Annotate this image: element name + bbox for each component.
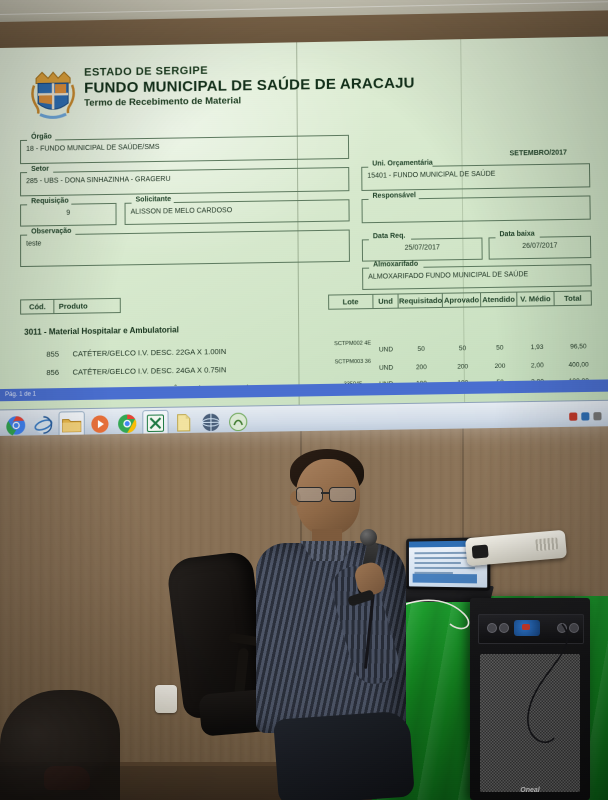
field-value: 15401 - FUNDO MUNICIPAL DE SAÚDE: [367, 171, 495, 180]
field-label: Requisição: [29, 198, 71, 206]
field-label: Setor: [29, 166, 51, 173]
field-value: ALMOXARIFADO FUNDO MUNICIPAL DE SAÚDE: [368, 271, 528, 281]
speaker-cable: [492, 620, 602, 780]
field-value: 18 - FUNDO MUNICIPAL DE SAÚDE/SMS: [26, 144, 159, 153]
field-almoxarifado: Almoxarifado ALMOXARIFADO FUNDO MUNICIPA…: [362, 264, 592, 290]
field-label: Uni. Orçamentária: [370, 160, 435, 168]
field-label: Data baixa: [497, 231, 536, 239]
field-label: Responsável: [370, 192, 417, 200]
row-und: UND: [373, 346, 399, 354]
field-responsavel: Responsável: [362, 195, 591, 223]
field-unidade-orcamentaria: Uni. Orçamentária 15401 - FUNDO MUNICIPA…: [361, 163, 590, 191]
row-total: 400,00: [558, 361, 598, 369]
field-value: teste: [26, 240, 41, 247]
row-requisitado: 200: [399, 364, 443, 372]
volume-icon[interactable]: [593, 412, 601, 420]
period-stamp: SETEMBRO/2017: [510, 149, 567, 157]
projector-vent: [535, 537, 558, 551]
folder-icon[interactable]: [59, 411, 85, 436]
glasses-icon: [296, 487, 358, 500]
media-player-icon[interactable]: [88, 411, 112, 436]
system-tray[interactable]: [569, 411, 608, 420]
legs: [273, 710, 415, 800]
field-observacao: Observação teste: [20, 230, 350, 268]
row-product: CATÉTER/GELCO I.V. DESC. 22GA X 1.00IN: [73, 347, 227, 359]
table-header-left: Cód. Produto: [20, 298, 121, 315]
field-solicitante: Solicitante ALISSON DE MELO CARDOSO: [125, 199, 350, 225]
row-code: 856: [46, 368, 59, 377]
row-aprovado: 200: [444, 363, 482, 371]
row-und: UND: [373, 364, 399, 372]
col-v-medio: V. Médio: [517, 292, 555, 306]
row-v-medio: 1,93: [518, 344, 556, 352]
globe-icon[interactable]: [199, 409, 223, 434]
document-heading: ESTADO DE SERGIPE FUNDO MUNICIPAL DE SAÚ…: [84, 62, 415, 109]
field-data-requisicao: Data Req. 25/07/2017: [362, 238, 483, 262]
network-icon[interactable]: [581, 412, 589, 420]
row-v-medio: 2,00: [518, 362, 556, 370]
col-aprovado: Aprovado: [443, 293, 481, 307]
row-code: 855: [46, 350, 59, 359]
shield-icon[interactable]: [569, 412, 577, 420]
field-value: 285 - UBS - DONA SINHAZINHA - GRAGERU: [26, 176, 170, 185]
projector-lens: [472, 544, 489, 558]
report-document: ESTADO DE SERGIPE FUNDO MUNICIPAL DE SAÚ…: [8, 39, 605, 400]
col-codigo: Cód.: [21, 300, 55, 314]
row-total: 96,50: [558, 343, 598, 351]
field-value: 9: [21, 209, 115, 218]
chrome-window-icon[interactable]: [115, 411, 139, 436]
projected-screen: Imprimir ▤ ▦ Salvar 100% + − ▣ ↔ ⬍ ⌕ ⏮ ◀…: [0, 10, 608, 435]
field-label: Órgão: [29, 133, 54, 140]
table-header-right: Lote Und Requisitado Aprovado Atendido V…: [328, 290, 592, 309]
field-requisicao: Requisição 9: [20, 203, 116, 227]
document-icon[interactable]: [172, 410, 196, 435]
row-atendido: 50: [482, 344, 518, 352]
row-product: CATÉTER/GELCO I.V. DESC. 24GA X 0.75IN: [73, 365, 227, 377]
app-icon[interactable]: [226, 409, 250, 434]
field-label: Observação: [29, 228, 73, 236]
col-lote: Lote: [329, 295, 373, 309]
field-value: 26/07/2017: [490, 242, 591, 251]
row-aprovado: 50: [443, 345, 481, 353]
col-total: Total: [555, 291, 591, 305]
col-und: Und: [373, 294, 399, 308]
photo-scene: Imprimir ▤ ▦ Salvar 100% + − ▣ ↔ ⬍ ⌕ ⏮ ◀…: [0, 0, 608, 800]
field-value: 25/07/2017: [363, 244, 482, 253]
amp-brand-label: Oneal: [470, 787, 590, 794]
row-lote: SCTPM003 36: [331, 359, 375, 366]
aracaju-coat-of-arms-icon: [30, 69, 76, 122]
chrome-icon[interactable]: [4, 413, 28, 436]
excel-icon[interactable]: [142, 409, 168, 436]
row-requisitado: 50: [399, 345, 443, 353]
presenter: [250, 445, 440, 800]
field-data-baixa: Data baixa 26/07/2017: [488, 236, 591, 260]
product-group-label: 3011 - Material Hospitalar e Ambulatoria…: [24, 325, 179, 337]
field-label: Data Req.: [371, 233, 408, 241]
internet-explorer-icon[interactable]: [31, 412, 55, 436]
col-requisitado: Requisitado: [399, 294, 443, 308]
field-label: Solicitante: [134, 196, 174, 204]
wall-outlet: [155, 685, 177, 713]
microphone-head: [360, 529, 377, 546]
foreground-shadow: [0, 690, 120, 800]
col-produto: Produto: [55, 299, 120, 313]
field-value: ALISSON DE MELO CARDOSO: [131, 207, 233, 216]
row-lote: SCTPM002 4E: [330, 340, 374, 347]
field-setor: Setor 285 - UBS - DONA SINHAZINHA - GRAG…: [20, 167, 349, 196]
field-orgao: Órgão 18 - FUNDO MUNICIPAL DE SAÚDE/SMS: [20, 135, 349, 164]
field-label: Almoxarifado: [371, 261, 420, 269]
page-indicator: Pág. 1 de 1: [5, 392, 36, 399]
col-atendido: Atendido: [481, 293, 517, 307]
row-atendido: 200: [482, 363, 518, 371]
